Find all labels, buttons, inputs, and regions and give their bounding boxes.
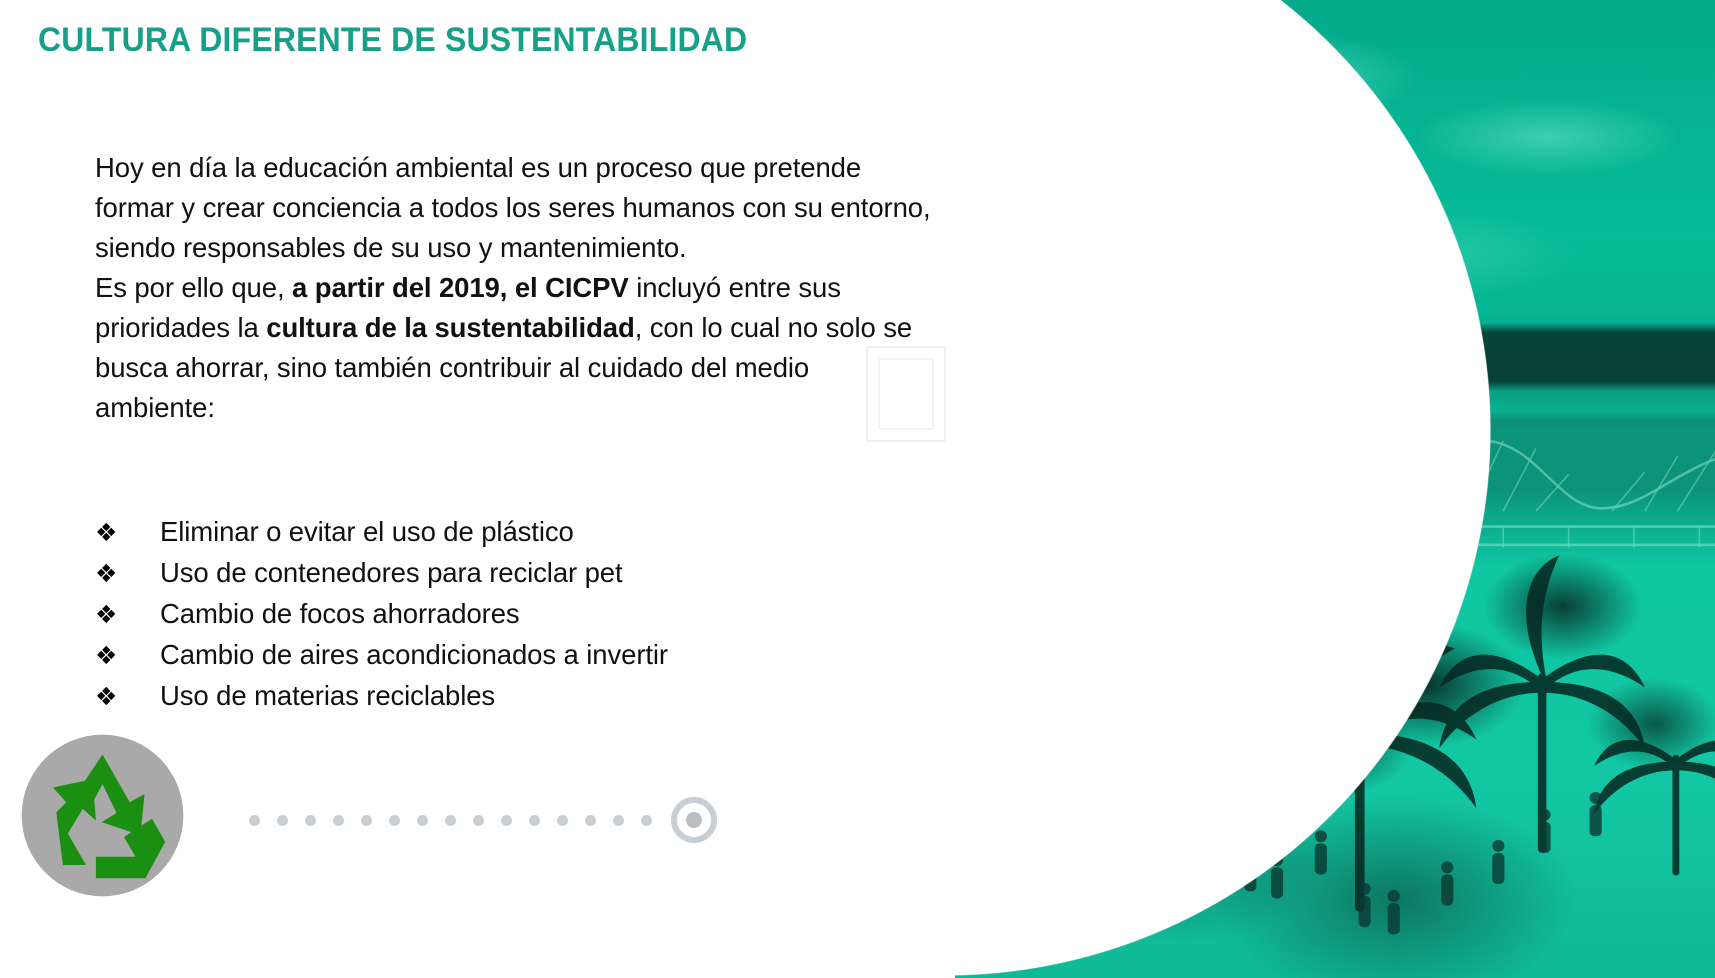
paragraph-2-bold-1: a partir del 2019, el CICPV xyxy=(292,272,629,303)
list-item: ❖ Cambio de focos ahorradores xyxy=(95,594,895,635)
list-item: ❖ Uso de materias reciclables xyxy=(95,676,895,717)
diamond-bullet-icon: ❖ xyxy=(95,595,160,635)
progress-dot[interactable] xyxy=(333,815,344,826)
list-item: ❖ Eliminar o evitar el uso de plástico xyxy=(95,512,895,553)
diamond-bullet-icon: ❖ xyxy=(95,636,160,676)
bullet-list: ❖ Eliminar o evitar el uso de plástico ❖… xyxy=(95,512,895,717)
list-item-label: Uso de contenedores para reciclar pet xyxy=(160,553,895,593)
paragraph-2-text-1: Es por ello que, xyxy=(95,272,292,303)
page-title: CULTURA DIFERENTE DE SUSTENTABILIDAD xyxy=(38,21,747,60)
slide-progress-indicator[interactable] xyxy=(249,797,717,843)
progress-current-core xyxy=(686,812,702,828)
list-item-label: Cambio de focos ahorradores xyxy=(160,594,895,634)
list-item-label: Uso de materias reciclables xyxy=(160,676,895,716)
list-item-label: Cambio de aires acondicionados a inverti… xyxy=(160,635,895,675)
progress-dot[interactable] xyxy=(249,815,260,826)
recycle-icon xyxy=(20,733,185,898)
watermark-box xyxy=(866,346,946,442)
recycle-logo xyxy=(20,733,185,898)
crowd-of-people xyxy=(1046,743,1654,958)
progress-dot[interactable] xyxy=(445,815,456,826)
progress-dot[interactable] xyxy=(557,815,568,826)
diamond-bullet-icon: ❖ xyxy=(95,554,160,594)
progress-dot[interactable] xyxy=(473,815,484,826)
diamond-bullet-icon: ❖ xyxy=(95,677,160,717)
photo-panel xyxy=(955,0,1715,978)
progress-dot[interactable] xyxy=(305,815,316,826)
progress-dot[interactable] xyxy=(529,815,540,826)
progress-dot[interactable] xyxy=(613,815,624,826)
progress-dot[interactable] xyxy=(501,815,512,826)
progress-current-indicator[interactable] xyxy=(671,797,717,843)
plaza-bridge-duotone-photo xyxy=(955,0,1715,978)
diamond-bullet-icon: ❖ xyxy=(95,513,160,553)
progress-dot[interactable] xyxy=(277,815,288,826)
paragraph-2: Es por ello que, a partir del 2019, el C… xyxy=(95,268,935,428)
progress-dot[interactable] xyxy=(417,815,428,826)
paragraph-2-bold-2: cultura de la sustentabilidad xyxy=(266,312,634,343)
list-item: ❖ Uso de contenedores para reciclar pet xyxy=(95,553,895,594)
progress-dot[interactable] xyxy=(641,815,652,826)
paragraph-1: Hoy en día la educación ambiental es un … xyxy=(95,148,935,268)
slide-canvas: CULTURA DIFERENTE DE SUSTENTABILIDAD Hoy… xyxy=(0,0,1715,978)
progress-dot[interactable] xyxy=(361,815,372,826)
list-item-label: Eliminar o evitar el uso de plástico xyxy=(160,512,895,552)
progress-dot[interactable] xyxy=(585,815,596,826)
progress-dot[interactable] xyxy=(389,815,400,826)
body-copy: Hoy en día la educación ambiental es un … xyxy=(95,148,935,428)
list-item: ❖ Cambio de aires acondicionados a inver… xyxy=(95,635,895,676)
